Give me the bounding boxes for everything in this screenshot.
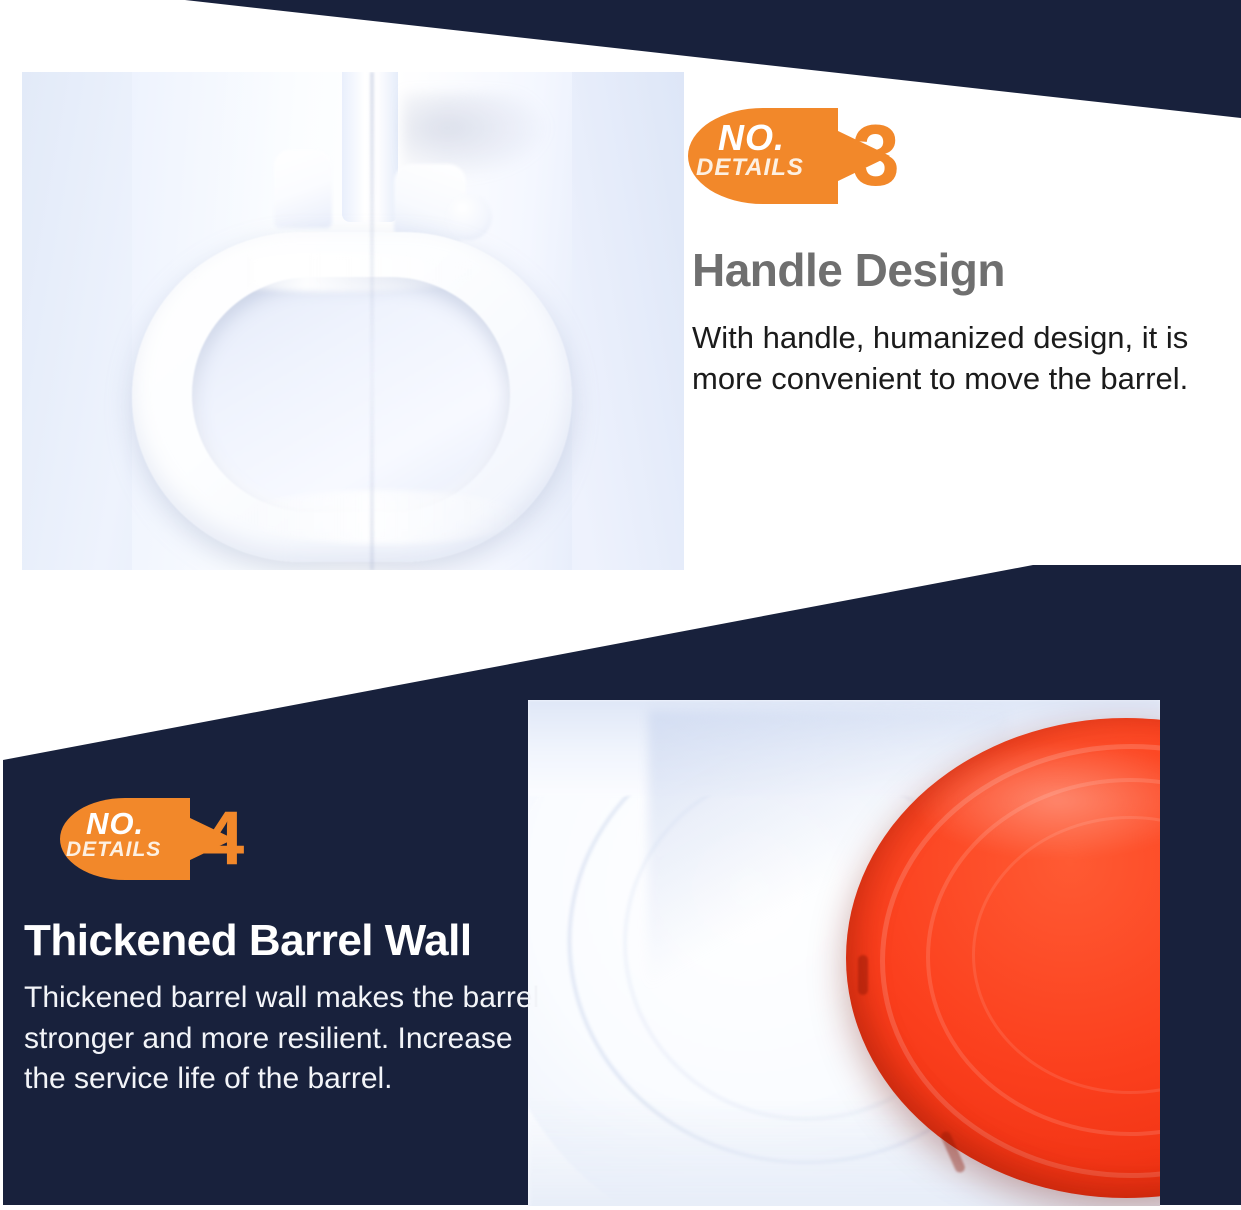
barrel-wall-body: Thickened barrel wall makes the barrel s… <box>24 978 544 1100</box>
detail-badge-3: NO. DETAILS 3 <box>688 108 900 204</box>
barrel-wall-text-block: Thickened Barrel Wall Thickened barrel w… <box>24 918 564 1100</box>
handle-lower-lip <box>237 490 527 544</box>
left-edge-border <box>0 560 3 1210</box>
handle-design-heading: Handle Design <box>692 246 1232 294</box>
detail-badge-4: NO. DETAILS 4 <box>60 798 244 880</box>
badge-details-label: DETAILS <box>696 156 804 180</box>
handle-photo <box>22 72 684 570</box>
handle-highlight <box>187 252 487 292</box>
handle-pivot-knob <box>446 194 492 240</box>
handle-bracket-left <box>274 150 332 228</box>
barrel-wall-heading: Thickened Barrel Wall <box>24 918 564 964</box>
handle-design-body: With handle, humanized design, it is mor… <box>692 318 1216 399</box>
handle-loop-inner <box>192 277 510 512</box>
badge-teardrop-icon: NO. DETAILS <box>688 108 838 204</box>
infographic-page: NO. DETAILS 3 Handle Design With handle,… <box>0 0 1241 1210</box>
badge-teardrop-icon: NO. DETAILS <box>60 798 190 880</box>
badge-no-label: NO. <box>86 808 144 839</box>
handle-design-text-block: Handle Design With handle, humanized des… <box>692 246 1232 399</box>
badge-details-label: DETAILS <box>66 839 161 860</box>
bottom-edge-border <box>0 1206 1241 1210</box>
badge-no-label: NO. <box>718 120 785 156</box>
barrel-wall-photo <box>528 700 1160 1210</box>
barrel-seam-line <box>370 72 374 570</box>
